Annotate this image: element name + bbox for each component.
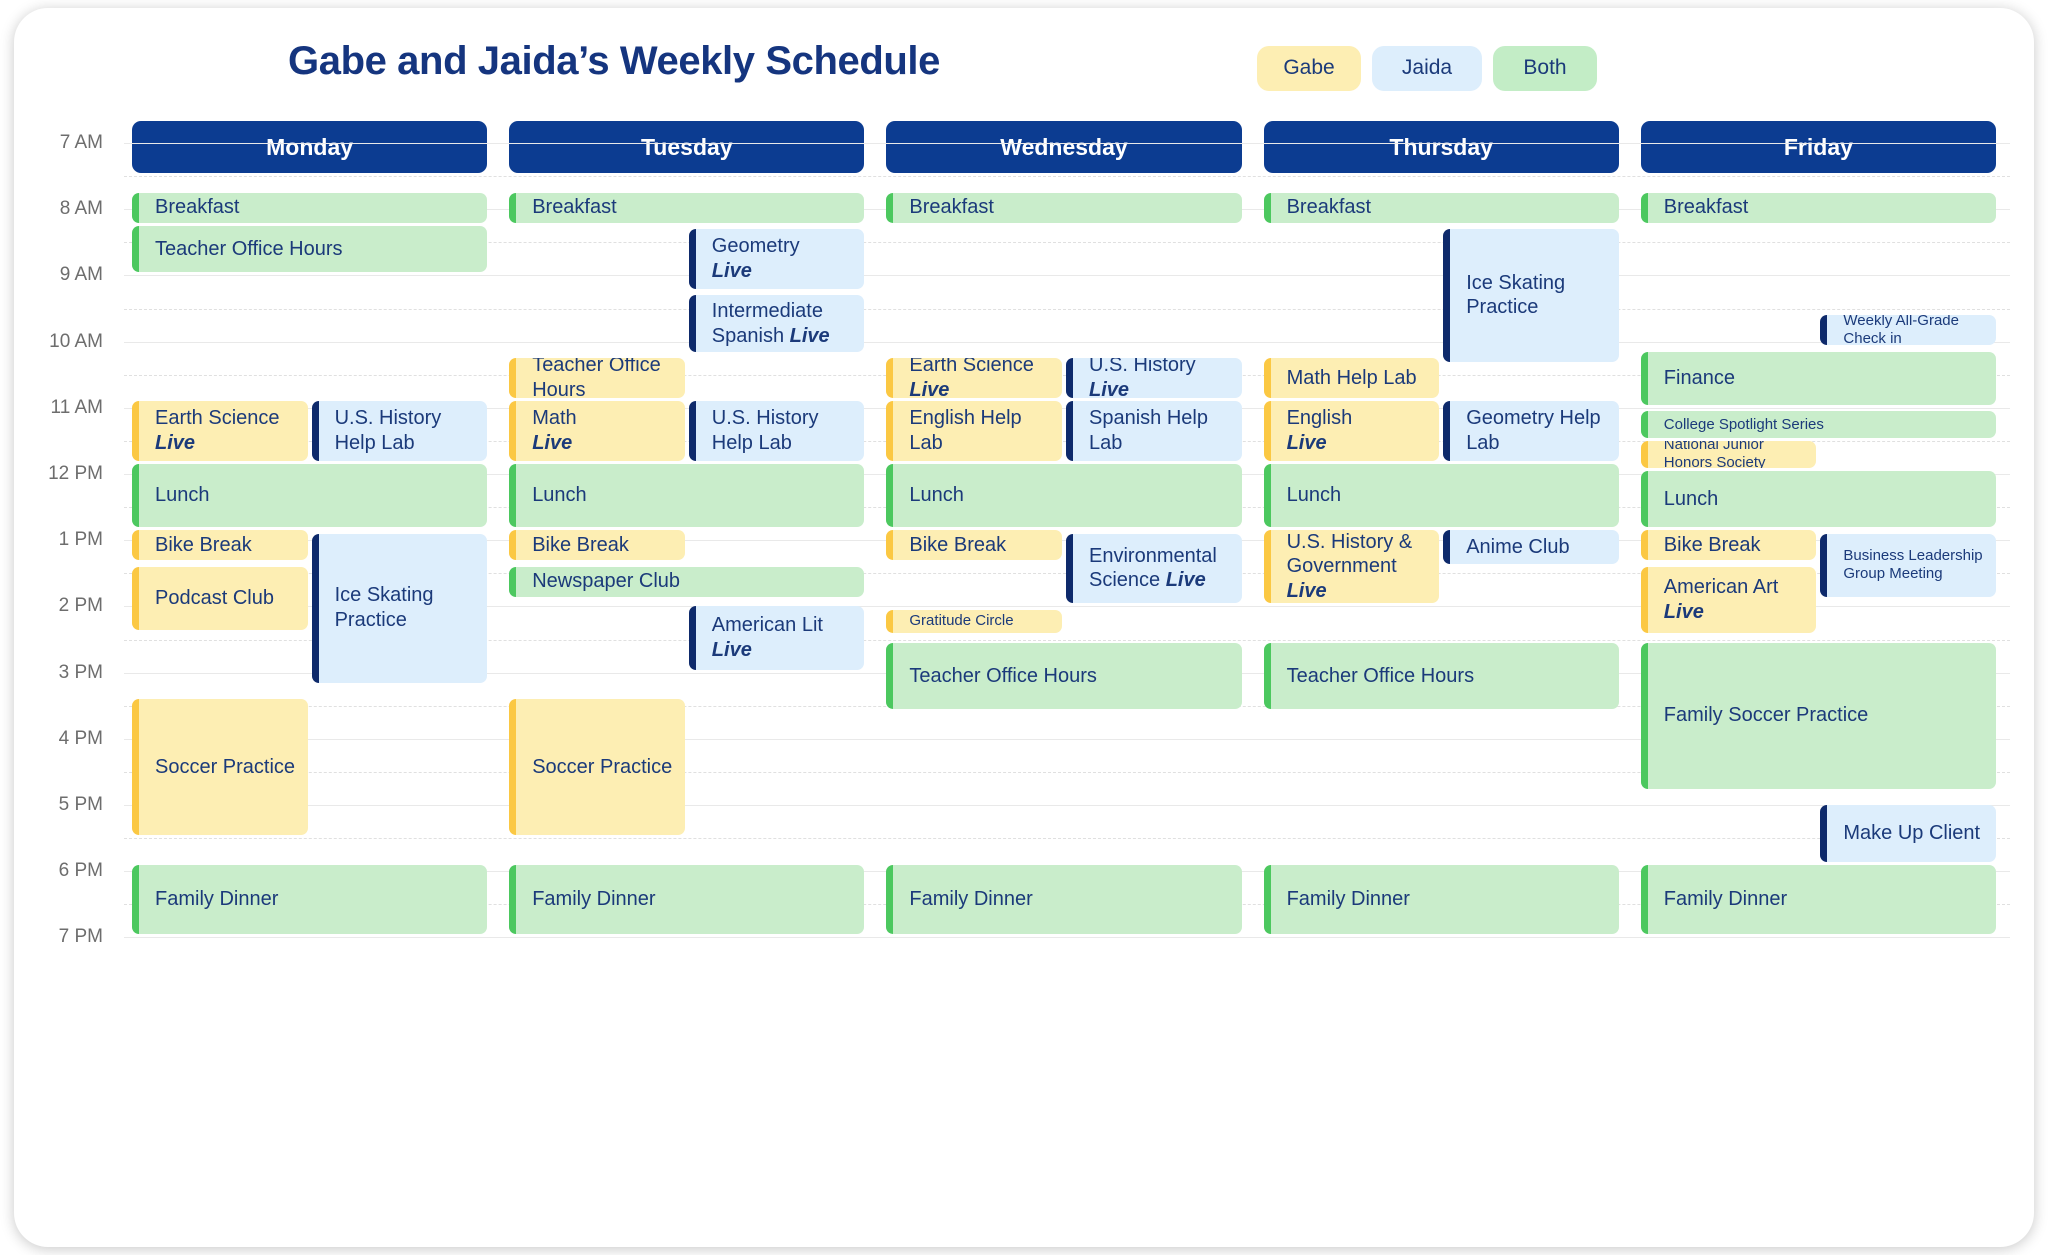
event-block[interactable]: Family Dinner <box>132 865 487 935</box>
event-block[interactable]: Lunch <box>132 464 487 527</box>
event-title: National Junior Honors Society <box>1664 441 1817 468</box>
event-block[interactable]: Earth ScienceLive <box>132 401 308 461</box>
event-block[interactable]: EnglishLive <box>1264 401 1440 461</box>
event-block[interactable]: English Help Lab <box>886 401 1062 461</box>
event-title: College Spotlight Series <box>1664 416 1832 434</box>
event-title: U.S. HistoryLive <box>1089 358 1204 398</box>
time-axis-label: 1 PM <box>9 529 103 551</box>
event-live-label: Live <box>1166 569 1206 591</box>
event-title: Lunch <box>532 483 595 508</box>
event-title: Geometry Help Lab <box>1466 406 1619 456</box>
event-title: Family Dinner <box>155 887 286 912</box>
event-live-label: Live <box>790 325 830 347</box>
event-title: Breakfast <box>155 195 247 220</box>
event-live-label: Live <box>155 432 195 454</box>
event-block[interactable]: Breakfast <box>886 193 1241 223</box>
event-block[interactable]: Bike Break <box>509 530 685 560</box>
event-block[interactable]: Gratitude Circle <box>886 610 1062 633</box>
day-header-monday[interactable]: Monday <box>132 121 487 173</box>
event-title: Lunch <box>155 483 218 508</box>
event-block[interactable]: Business Leadership Group Meeting <box>1820 534 1996 597</box>
day-header-tuesday[interactable]: Tuesday <box>509 121 864 173</box>
event-title: U.S. History & Government Live <box>1287 530 1440 603</box>
day-header-wednesday[interactable]: Wednesday <box>886 121 1241 173</box>
hour-gridline <box>124 342 2010 343</box>
event-block[interactable]: National Junior Honors Society <box>1641 441 1817 468</box>
event-title: Breakfast <box>532 195 624 220</box>
event-block[interactable]: Soccer Practice <box>509 699 685 835</box>
event-title: Soccer Practice <box>532 755 680 780</box>
event-block[interactable]: Geometry Help Lab <box>1443 401 1619 461</box>
hour-gridline <box>124 143 2010 144</box>
time-axis-label: 10 AM <box>9 331 103 353</box>
event-block[interactable]: Lunch <box>886 464 1241 527</box>
event-block[interactable]: Soccer Practice <box>132 699 308 835</box>
event-title: U.S. History Help Lab <box>335 406 488 456</box>
event-title: American LitLive <box>712 613 831 663</box>
schedule-card: Gabe and Jaida’s Weekly Schedule Gabe Ja… <box>14 8 2034 1247</box>
event-block[interactable]: Anime Club <box>1443 530 1619 563</box>
event-title: Weekly All-Grade Check in <box>1843 315 1996 345</box>
event-block[interactable]: Family Soccer Practice <box>1641 643 1996 789</box>
event-title: Breakfast <box>1287 195 1379 220</box>
event-block[interactable]: U.S. History Help Lab <box>312 401 488 461</box>
schedule-page: Gabe and Jaida’s Weekly Schedule Gabe Ja… <box>0 0 2048 1255</box>
event-title: Bike Break <box>532 533 637 558</box>
event-block[interactable]: Teacher Office Hours <box>132 226 487 273</box>
event-title: Finance <box>1664 366 1743 391</box>
event-block[interactable]: Weekly All-Grade Check in <box>1820 315 1996 345</box>
event-title: Math Help Lab <box>1287 366 1425 391</box>
day-header-thursday[interactable]: Thursday <box>1264 121 1619 173</box>
event-block[interactable]: Podcast Club <box>132 567 308 630</box>
time-axis-label: 4 PM <box>9 728 103 750</box>
event-block[interactable]: Teacher Office Hours <box>886 643 1241 710</box>
event-title: Breakfast <box>1664 195 1756 220</box>
event-block[interactable]: Newspaper Club <box>509 567 864 597</box>
event-title: Newspaper Club <box>532 569 688 594</box>
event-title: Lunch <box>1287 483 1350 508</box>
event-title: Make Up Client <box>1843 821 1988 846</box>
event-block[interactable]: Breakfast <box>509 193 864 223</box>
event-block[interactable]: American ArtLive <box>1641 567 1817 634</box>
event-block[interactable]: Ice Skating Practice <box>1443 229 1619 362</box>
event-block[interactable]: Ice Skating Practice <box>312 534 488 683</box>
event-block[interactable]: Lunch <box>509 464 864 527</box>
time-axis-label: 12 PM <box>9 463 103 485</box>
event-block[interactable]: Family Dinner <box>886 865 1241 935</box>
event-title: American ArtLive <box>1664 575 1786 625</box>
legend-pill-jaida[interactable]: Jaida <box>1372 46 1482 91</box>
time-axis-label: 2 PM <box>9 595 103 617</box>
event-title: U.S. History Help Lab <box>712 406 865 456</box>
event-title: English Help Lab <box>909 406 1062 456</box>
event-block[interactable]: Family Dinner <box>509 865 864 935</box>
hour-gridline <box>124 275 2010 276</box>
event-title: Ice Skating Practice <box>335 583 488 633</box>
event-block[interactable]: Make Up Client <box>1820 805 1996 862</box>
event-title: Teacher Office Hours <box>532 358 685 398</box>
event-block[interactable]: Lunch <box>1641 471 1996 528</box>
schedule-grid: 7 AM8 AM9 AM10 AM11 AM12 PM1 PM2 PM3 PM4… <box>124 178 2010 1233</box>
event-block[interactable]: MathLive <box>509 401 685 461</box>
event-title: Family Dinner <box>1664 887 1795 912</box>
event-block[interactable]: U.S. History Help Lab <box>689 401 865 461</box>
half-hour-gridline <box>124 838 2010 839</box>
event-live-label: Live <box>1287 432 1327 454</box>
event-title: Environmental Science Live <box>1089 544 1242 594</box>
event-title: MathLive <box>532 406 584 456</box>
legend: Gabe Jaida Both <box>1257 46 1597 91</box>
event-block[interactable]: Environmental Science Live <box>1066 534 1242 604</box>
event-block[interactable]: Breakfast <box>1641 193 1996 223</box>
time-axis-label: 6 PM <box>9 860 103 882</box>
event-block[interactable]: Bike Break <box>886 530 1062 560</box>
time-axis-label: 7 AM <box>9 132 103 154</box>
event-block[interactable]: Finance <box>1641 352 1996 405</box>
event-title: Lunch <box>909 483 972 508</box>
event-title: Soccer Practice <box>155 755 303 780</box>
event-title: Teacher Office Hours <box>155 237 351 262</box>
event-block[interactable]: Breakfast <box>132 193 487 223</box>
event-title: Family Soccer Practice <box>1664 703 1877 728</box>
legend-pill-gabe[interactable]: Gabe <box>1257 46 1361 91</box>
event-block[interactable]: Spanish Help Lab <box>1066 401 1242 461</box>
event-block[interactable]: U.S. History & Government Live <box>1264 530 1440 603</box>
event-block[interactable]: Math Help Lab <box>1264 358 1440 398</box>
event-block[interactable]: American LitLive <box>689 606 865 669</box>
event-block[interactable]: Teacher Office Hours <box>509 358 685 398</box>
event-block[interactable]: Family Dinner <box>1641 865 1996 935</box>
event-live-label: Live <box>1664 601 1704 623</box>
event-title: Family Dinner <box>532 887 663 912</box>
event-title: Breakfast <box>909 195 1001 220</box>
event-live-label: Live <box>1287 580 1327 602</box>
event-title: Earth ScienceLive <box>155 406 288 456</box>
event-block[interactable]: Breakfast <box>1264 193 1619 223</box>
event-block[interactable]: Intermediate Spanish Live <box>689 295 865 352</box>
time-axis-label: 5 PM <box>9 794 103 816</box>
legend-pill-both[interactable]: Both <box>1493 46 1597 91</box>
event-live-label: Live <box>909 379 949 398</box>
time-axis-label: 7 PM <box>9 926 103 948</box>
time-axis-label: 8 AM <box>9 198 103 220</box>
half-hour-gridline <box>124 176 2010 177</box>
event-title: Bike Break <box>155 533 260 558</box>
event-live-label: Live <box>712 260 752 282</box>
hour-gridline <box>124 805 2010 806</box>
event-title: Earth ScienceLive <box>909 358 1042 398</box>
half-hour-gridline <box>124 309 2010 310</box>
event-block[interactable]: College Spotlight Series <box>1641 411 1996 438</box>
hour-gridline <box>124 937 2010 938</box>
event-title: Business Leadership Group Meeting <box>1843 547 1996 583</box>
event-block[interactable]: Lunch <box>1264 464 1619 527</box>
event-title: Bike Break <box>1664 533 1769 558</box>
event-title: Ice Skating Practice <box>1466 271 1619 321</box>
event-title: Podcast Club <box>155 586 282 611</box>
event-title: Intermediate Spanish Live <box>712 299 865 349</box>
time-axis-label: 9 AM <box>9 264 103 286</box>
event-block[interactable]: Family Dinner <box>1264 865 1619 935</box>
event-block[interactable]: Earth ScienceLive <box>886 358 1062 398</box>
event-live-label: Live <box>712 639 752 661</box>
event-title: Anime Club <box>1466 535 1577 560</box>
event-title: Bike Break <box>909 533 1014 558</box>
event-title: EnglishLive <box>1287 406 1361 456</box>
event-title: Lunch <box>1664 487 1727 512</box>
event-title: Teacher Office Hours <box>1287 664 1483 689</box>
event-block[interactable]: Bike Break <box>1641 530 1817 560</box>
page-title: Gabe and Jaida’s Weekly Schedule <box>14 39 1214 84</box>
event-title: Spanish Help Lab <box>1089 406 1242 456</box>
event-block[interactable]: Teacher Office Hours <box>1264 643 1619 710</box>
event-title: Teacher Office Hours <box>909 664 1105 689</box>
event-title: GeometryLive <box>712 234 808 284</box>
time-axis-label: 11 AM <box>9 397 103 419</box>
event-title: Family Dinner <box>909 887 1040 912</box>
event-live-label: Live <box>532 432 572 454</box>
event-title: Family Dinner <box>1287 887 1418 912</box>
event-block[interactable]: GeometryLive <box>689 229 865 289</box>
event-live-label: Live <box>1089 379 1129 398</box>
event-block[interactable]: Bike Break <box>132 530 308 560</box>
event-block[interactable]: U.S. HistoryLive <box>1066 358 1242 398</box>
event-title: Gratitude Circle <box>909 612 1021 630</box>
day-header-friday[interactable]: Friday <box>1641 121 1996 173</box>
time-axis-label: 3 PM <box>9 662 103 684</box>
